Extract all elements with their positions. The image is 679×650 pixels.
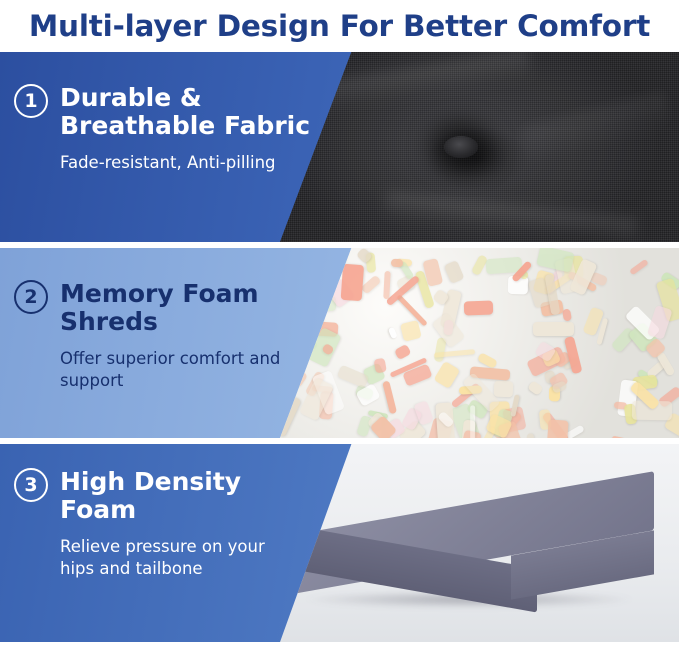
panel-2-heading: Memory Foam Shreds <box>60 280 320 336</box>
panel-3-heading-row: 3 High Density Foam <box>14 468 330 524</box>
divider-3 <box>0 642 679 650</box>
infographic-page: Multi-layer Design For Better Comfort 1 … <box>0 0 679 650</box>
panel-1-number-badge: 1 <box>14 84 48 118</box>
panel-3-subtext: Relieve pressure on your hips and tailbo… <box>60 536 300 580</box>
feature-panel-3: 3 High Density Foam Relieve pressure on … <box>0 444 679 642</box>
panel-1-heading-row: 1 Durable & Breathable Fabric <box>14 84 330 140</box>
panel-3-heading: High Density Foam <box>60 468 320 524</box>
panel-2-heading-row: 2 Memory Foam Shreds <box>14 280 330 336</box>
panel-2-subtext: Offer superior comfort and support <box>60 348 300 392</box>
divider-2 <box>0 438 679 444</box>
feature-panel-1: 1 Durable & Breathable Fabric Fade-resis… <box>0 52 679 242</box>
feature-panel-2: 2 Memory Foam Shreds Offer superior comf… <box>0 248 679 438</box>
fabric-tuft-button <box>444 136 478 158</box>
panel-1-content: 1 Durable & Breathable Fabric Fade-resis… <box>0 52 330 242</box>
panel-2-content: 2 Memory Foam Shreds Offer superior comf… <box>0 248 330 438</box>
panel-1-subtext: Fade-resistant, Anti-pilling <box>60 152 300 174</box>
panel-1-heading: Durable & Breathable Fabric <box>60 84 320 140</box>
header: Multi-layer Design For Better Comfort <box>0 0 679 52</box>
panel-3-content: 3 High Density Foam Relieve pressure on … <box>0 444 330 642</box>
panel-2-number-badge: 2 <box>14 280 48 314</box>
panel-3-number-badge: 3 <box>14 468 48 502</box>
page-title: Multi-layer Design For Better Comfort <box>29 9 650 43</box>
divider-1 <box>0 242 679 248</box>
